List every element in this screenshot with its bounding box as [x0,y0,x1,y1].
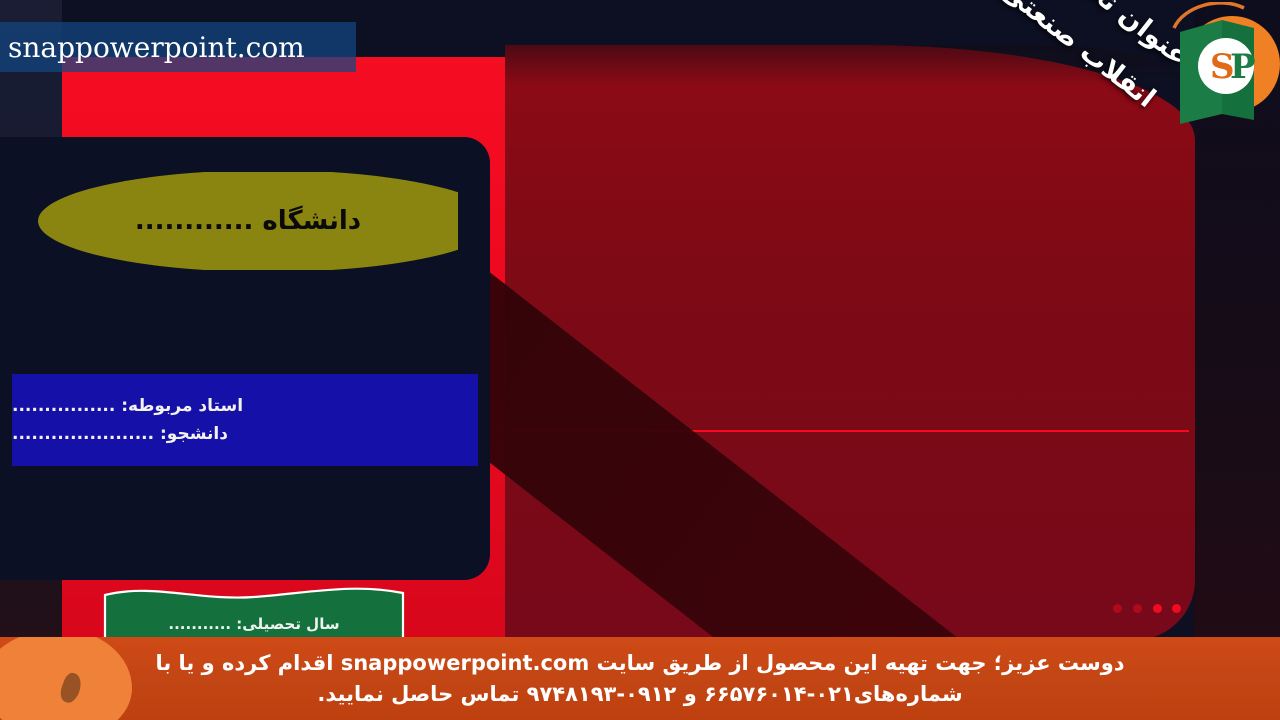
university-ellipse: دانشگاه ............ [38,172,458,270]
presentation-slide: عنوان تحقیق: انقلاب صنعتی چهارم و چالش‌ه… [0,0,1280,720]
accent-dot [1172,604,1181,613]
footer-line-1-after: اقدام کرده و یا با [155,651,340,675]
accent-dot [1153,604,1162,613]
accent-dot [1133,604,1142,613]
promo-footer: دوست عزیز؛ جهت تهیه این محصول از طریق سا… [0,637,1280,720]
footer-text: دوست عزیز؛ جهت تهیه این محصول از طریق سا… [0,637,1280,720]
footer-site-link[interactable]: snappowerpoint.com [341,648,590,678]
student-label: دانشجو: ...................... [12,424,228,444]
people-box: استاد مربوطه: ................ دانشجو: .… [12,374,478,466]
university-label: دانشگاه ............ [38,172,458,270]
footer-line-1-before: دوست عزیز؛ جهت تهیه این محصول از طریق سا… [589,651,1124,675]
site-watermark-text: snappowerpoint.com [0,31,305,64]
accent-dot [1113,604,1122,613]
supervisor-label: استاد مربوطه: ................ [12,396,243,416]
academic-year-label: سال تحصیلی: ........... [103,615,405,633]
snappowerpoint-logo[interactable]: S P [1158,2,1280,128]
site-watermark: snappowerpoint.com [0,22,356,72]
footer-line-1: دوست عزیز؛ جهت تهیه این محصول از طریق سا… [155,648,1124,678]
logo-monogram-p: P [1230,47,1256,87]
footer-line-2: شماره‌های۰۲۱-۶۶۵۷۶۰۱۴ و ۰۹۱۲-۹۷۴۸۱۹۳ تما… [317,679,962,709]
